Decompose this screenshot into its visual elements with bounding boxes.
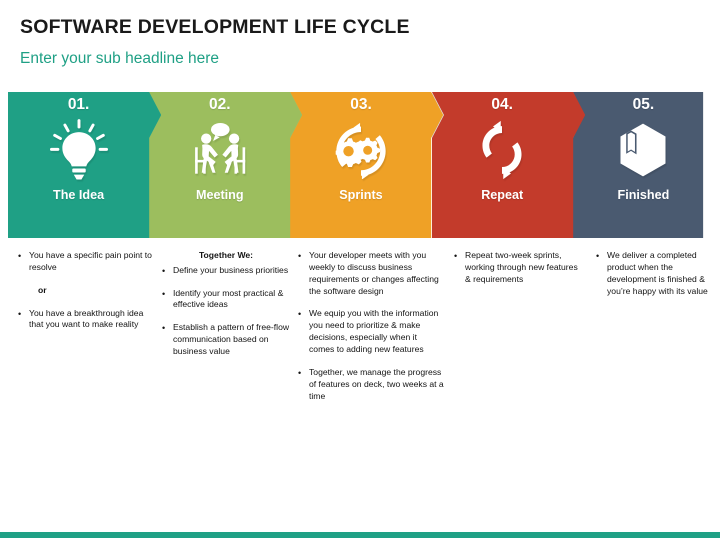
lightbulb-idea-icon	[43, 117, 115, 183]
bullet-item: •Establish a pattern of free-flow commun…	[160, 322, 292, 358]
bullet-dot-icon: •	[18, 308, 21, 320]
bullet-text: Repeat two-week sprints, working through…	[465, 250, 578, 284]
bullet-list: •Define your business priorities•Identif…	[160, 265, 292, 358]
stage-number: 01.	[68, 97, 90, 113]
refresh-loop-arrows-icon	[466, 117, 538, 183]
stage-card-3[interactable]: 03. Sprints	[290, 92, 443, 238]
bullet-text: Establish a pattern of free-flow communi…	[173, 322, 289, 356]
stage-card-content: 01. The Idea	[8, 92, 149, 238]
bullet-dot-icon: •	[596, 250, 599, 262]
stage-label: Repeat	[481, 189, 523, 202]
bullet-item: •You have a breakthrough idea that you w…	[16, 308, 154, 332]
stage-label: Finished	[618, 189, 670, 202]
bullet-text: Your developer meets with you weekly to …	[309, 250, 439, 296]
bullet-text: You have a specific pain point to resolv…	[29, 250, 152, 272]
bullet-item: •Together, we manage the progress of fea…	[296, 367, 444, 403]
bullet-item: •Repeat two-week sprints, working throug…	[452, 250, 580, 286]
bullet-text: Define your business priorities	[173, 265, 288, 275]
detail-column-1: •You have a specific pain point to resol…	[16, 250, 154, 342]
bullet-item: •We equip you with the information you n…	[296, 308, 444, 355]
bullet-dot-icon: •	[454, 250, 457, 262]
bullet-dot-icon: •	[298, 308, 301, 320]
column-heading: Together We:	[160, 250, 292, 261]
stage-number: 03.	[350, 97, 372, 113]
bullet-item: •We deliver a completed product when the…	[594, 250, 712, 297]
bullet-list: •We deliver a completed product when the…	[594, 250, 712, 297]
bullet-text: Identify your most practical & effective…	[173, 288, 283, 310]
stage-card-content: 05. Finished	[573, 92, 714, 238]
stage-label: Meeting	[196, 189, 244, 202]
bullet-item: •Define your business priorities	[160, 265, 292, 277]
stage-card-1[interactable]: 01. The Idea	[8, 92, 161, 238]
stage-card-content: 03. Sprints	[290, 92, 431, 238]
stage-card-content: 02. Meeting	[149, 92, 290, 238]
bullet-text: We deliver a completed product when the …	[607, 250, 708, 296]
footer-accent-bar	[0, 532, 720, 538]
stage-card-4[interactable]: 04. Repeat	[432, 92, 585, 238]
bullet-dot-icon: •	[162, 322, 165, 334]
stage-number: 04.	[491, 97, 513, 113]
stage-card-2[interactable]: 02. Meeting	[149, 92, 302, 238]
bullet-list: •Repeat two-week sprints, working throug…	[452, 250, 580, 286]
detail-column-4: •Repeat two-week sprints, working throug…	[452, 250, 580, 297]
bullet-item: •You have a specific pain point to resol…	[16, 250, 154, 274]
bullet-text: You have a breakthrough idea that you wa…	[29, 308, 143, 330]
stage-detail-columns: •You have a specific pain point to resol…	[8, 250, 712, 480]
detail-column-2: Together We:•Define your business priori…	[160, 250, 292, 369]
stage-number: 02.	[209, 97, 231, 113]
bullet-list: •You have a specific pain point to resol…	[16, 250, 154, 331]
stage-card-content: 04. Repeat	[432, 92, 573, 238]
delivered-box-icon	[607, 117, 679, 183]
page-subtitle: Enter your sub headline here	[20, 50, 219, 68]
bullet-text: or	[38, 285, 47, 295]
detail-column-5: •We deliver a completed product when the…	[594, 250, 712, 308]
bullet-dot-icon: •	[298, 367, 301, 379]
gears-cycle-icon	[325, 117, 397, 183]
stage-label: Sprints	[339, 189, 382, 202]
stage-card-5[interactable]: 05. Finished	[573, 92, 714, 238]
stage-number: 05.	[633, 97, 655, 113]
stage-banner: 01. The Idea02.	[8, 92, 712, 238]
bullet-item: •Identify your most practical & effectiv…	[160, 288, 292, 312]
bullet-dot-icon: •	[18, 250, 21, 262]
bullet-item: •or	[16, 285, 154, 297]
stage-label: The Idea	[53, 189, 104, 202]
bullet-dot-icon: •	[162, 265, 165, 277]
bullet-text: Together, we manage the progress of feat…	[309, 367, 444, 401]
people-meeting-icon	[184, 117, 256, 183]
bullet-dot-icon: •	[162, 288, 165, 300]
detail-column-3: •Your developer meets with you weekly to…	[296, 250, 444, 413]
bullet-text: We equip you with the information you ne…	[309, 308, 438, 354]
bullet-list: •Your developer meets with you weekly to…	[296, 250, 444, 402]
page-title: SOFTWARE DEVELOPMENT LIFE CYCLE	[20, 16, 410, 39]
bullet-item: •Your developer meets with you weekly to…	[296, 250, 444, 297]
bullet-dot-icon: •	[298, 250, 301, 262]
